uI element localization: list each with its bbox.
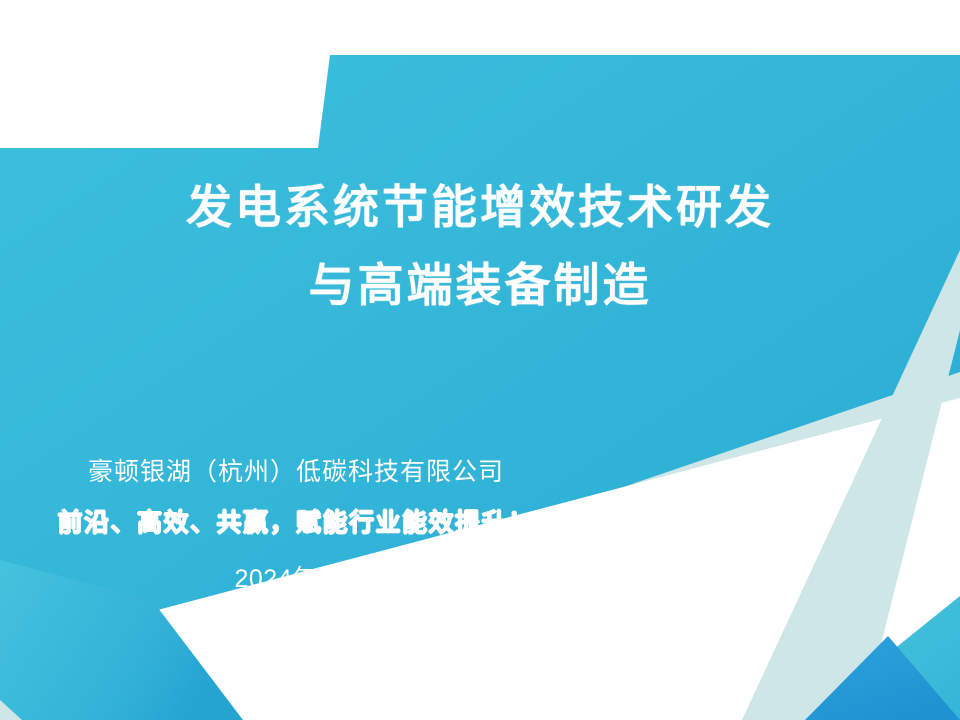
title-line-1: 发电系统节能增效技术研发	[0, 168, 960, 246]
title-block: 发电系统节能增效技术研发 与高端装备制造	[0, 168, 960, 324]
company-slogan: 前沿、高效、共赢，赋能行业能效提升！	[0, 506, 592, 540]
title-slide: 发电系统节能增效技术研发 与高端装备制造 豪顿银湖（杭州）低碳科技有限公司 前沿…	[0, 0, 960, 720]
company-name: 豪顿银湖（杭州）低碳科技有限公司	[0, 456, 592, 490]
footer-info-block: 豪顿银湖（杭州）低碳科技有限公司 前沿、高效、共赢，赋能行业能效提升！ 2024…	[0, 456, 592, 596]
title-line-2: 与高端装备制造	[0, 246, 960, 324]
slide-content: 发电系统节能增效技术研发 与高端装备制造 豪顿银湖（杭州）低碳科技有限公司 前沿…	[0, 0, 960, 720]
presentation-date: 2024年9月	[0, 562, 592, 596]
